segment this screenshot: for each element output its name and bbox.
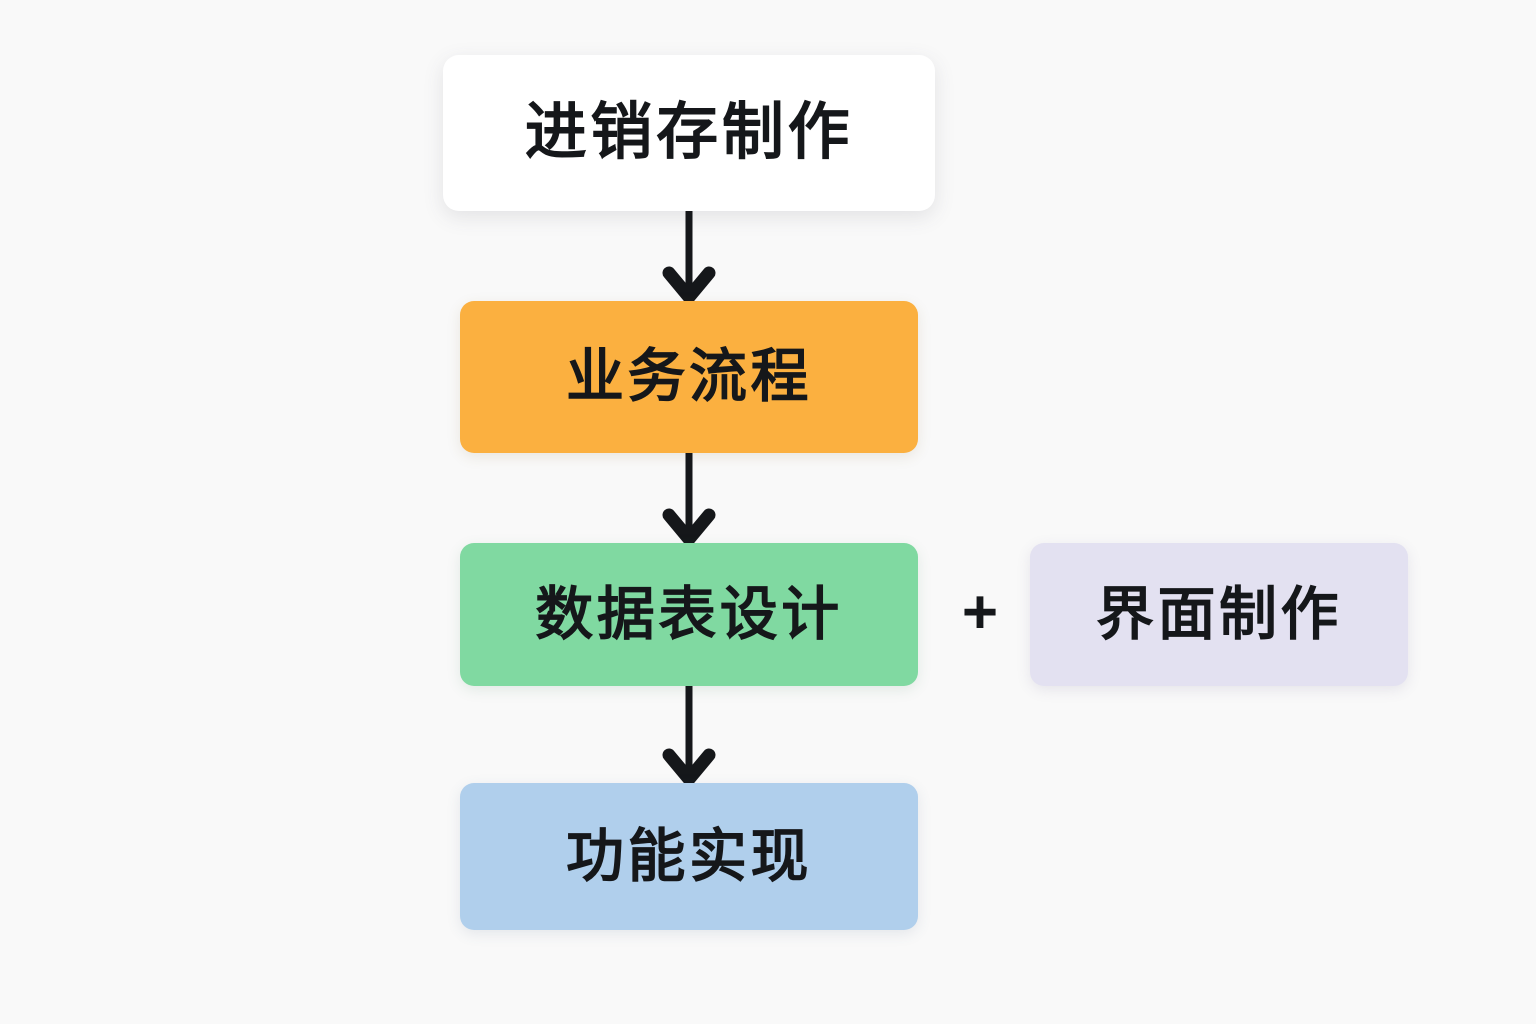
node-feature-implementation[interactable]: 功能实现: [460, 783, 918, 930]
node-root[interactable]: 进销存制作: [443, 55, 935, 211]
arrow-table-to-feature: [655, 686, 723, 783]
node-interface-design[interactable]: 界面制作: [1030, 543, 1408, 686]
arrow-process-to-table: [655, 453, 723, 543]
arrow-down-icon: [655, 686, 723, 783]
node-root-label: 进销存制作: [525, 102, 854, 164]
node-data-table-design[interactable]: 数据表设计: [460, 543, 918, 686]
node-interface-design-label: 界面制作: [1096, 586, 1342, 644]
arrow-down-icon: [655, 453, 723, 543]
plus-operator-symbol: +: [962, 582, 998, 644]
node-business-process-label: 业务流程: [566, 348, 812, 406]
node-business-process[interactable]: 业务流程: [460, 301, 918, 453]
node-data-table-design-label: 数据表设计: [535, 586, 842, 644]
arrow-root-to-process: [655, 211, 723, 301]
node-feature-implementation-label: 功能实现: [566, 828, 812, 886]
diagram-canvas: 进销存制作 业务流程 数据表设计 + 界面制作 功能实现: [0, 0, 1536, 1024]
plus-operator-icon: +: [948, 578, 1012, 648]
arrow-down-icon: [655, 211, 723, 301]
